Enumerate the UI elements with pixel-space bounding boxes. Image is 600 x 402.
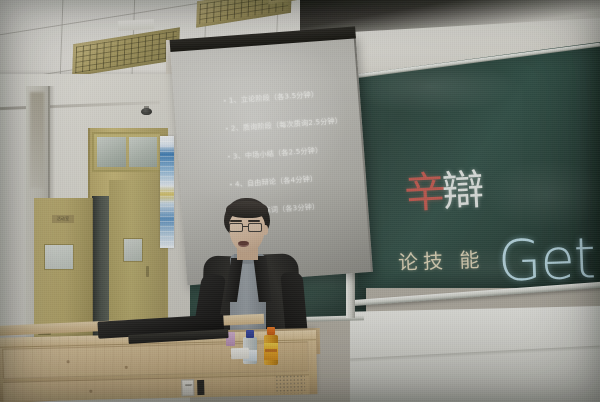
door-handle[interactable] (146, 266, 149, 277)
door-sign: 活动室 (52, 215, 74, 223)
wall-stain (30, 92, 44, 188)
power-outlet[interactable] (181, 379, 194, 396)
paper-sheet (118, 19, 154, 31)
wood-knot (89, 390, 92, 393)
hair-fringe (226, 201, 268, 218)
mouth (238, 241, 249, 247)
blackboard-main (358, 42, 600, 288)
glasses-lens (248, 223, 262, 232)
bottle-label (264, 343, 278, 360)
bottle-cap (267, 327, 275, 335)
bottle-cap (246, 330, 254, 338)
transom-pane (129, 137, 158, 167)
tissue-pack[interactable] (231, 348, 249, 360)
glasses-lens (229, 223, 243, 232)
audio-speaker-grill (275, 374, 305, 394)
poster-text-lines (160, 136, 174, 248)
glasses-icon (229, 223, 265, 232)
eyebrow (230, 220, 242, 222)
door-window (44, 244, 74, 270)
security-camera-icon (141, 106, 152, 115)
door-transom (92, 132, 162, 172)
camera-dome (141, 108, 152, 115)
chalk-dust-overlay (358, 42, 600, 288)
door-window (123, 238, 143, 262)
wood-knot (125, 366, 128, 369)
transom-pane (97, 137, 126, 167)
outlet-dark-slot (197, 380, 204, 395)
wall-poster (160, 136, 174, 248)
classroom-photo-scene: 辛辯 论技 能 Get 活动室 1、立论阶段（各3.5分钟） 2、质询阶段（每次… (0, 0, 600, 402)
tea-bottle[interactable] (264, 327, 278, 365)
wood-knot (67, 360, 70, 363)
eyebrow (248, 220, 260, 222)
